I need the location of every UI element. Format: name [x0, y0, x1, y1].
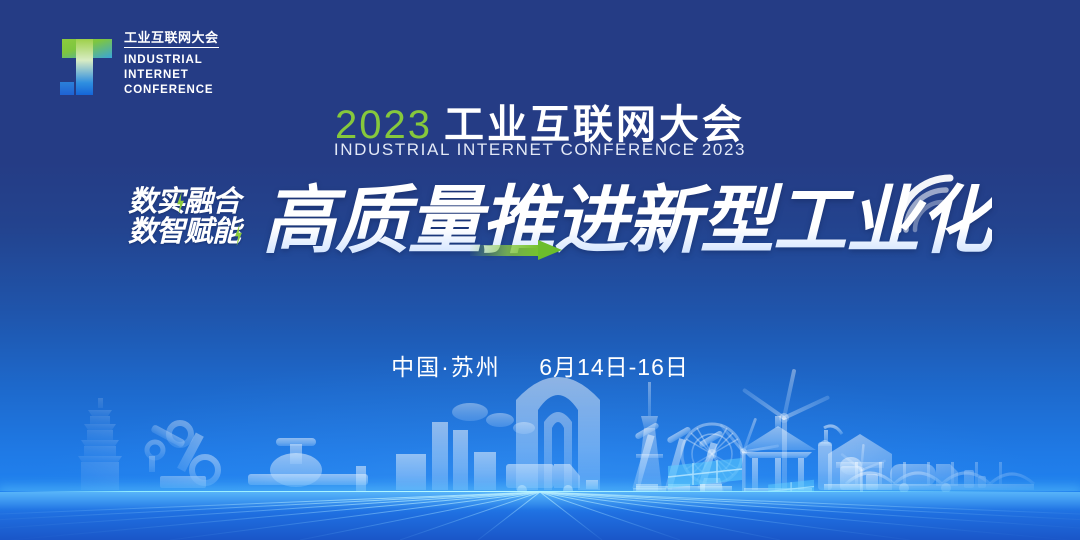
- perspective-grid: [0, 492, 1080, 540]
- arrow-head: [538, 240, 562, 260]
- event-location: 中国·苏州: [391, 354, 501, 380]
- wifi-signal-icon: [888, 168, 960, 240]
- logo-mark-icon: [56, 33, 112, 95]
- pagoda-icon: [78, 398, 122, 490]
- event-meta: 中国·苏州 6月14日-16日: [0, 348, 1080, 382]
- event-date: 6月14日-16日: [539, 354, 689, 380]
- logo-english-line-2: INTERNET: [124, 68, 219, 83]
- wind-turbine-icon: [719, 418, 779, 498]
- gate-of-the-orient-icon: [516, 377, 600, 490]
- logo-text-block: 工业互联网大会 INDUSTRIAL INTERNET CONFERENCE: [124, 30, 219, 99]
- wind-turbine-icon: [742, 369, 830, 492]
- factory-smokestacks-icon: [396, 403, 535, 490]
- tv-tower-icon: [633, 382, 666, 492]
- conference-poster: 工业互联网大会 INDUSTRIAL INTERNET CONFERENCE 2…: [0, 0, 1080, 540]
- ferris-wheel-icon: [682, 424, 742, 492]
- green-arrow-icon: [470, 240, 562, 260]
- bridge-icon: [824, 462, 1034, 490]
- wind-turbine-icon: [840, 444, 886, 498]
- chinese-pavilion-icon: [740, 416, 816, 493]
- tanker-truck-icon: [890, 464, 986, 493]
- logo-chinese-name: 工业互联网大会: [124, 31, 219, 48]
- slogan-secondary-line-1: 数实融合: [128, 188, 240, 218]
- pipe-valve-icon: [248, 438, 368, 492]
- logo-mark-stem: [76, 39, 93, 95]
- port-cranes-icon: [632, 422, 732, 491]
- slogan-main: 高质量推进新型工业化: [262, 178, 992, 264]
- storage-tanks-icon: [818, 426, 878, 490]
- logo-english-line-1: INDUSTRIAL: [124, 53, 219, 68]
- slogan-secondary-line-2: 数智赋能: [128, 218, 240, 248]
- page-subtitle: INDUSTRIAL INTERNET CONFERENCE 2023: [0, 140, 1080, 160]
- slogan-secondary: 数实融合 数智赋能: [128, 188, 240, 247]
- conference-logo: 工业互联网大会 INDUSTRIAL INTERNET CONFERENCE: [56, 30, 219, 99]
- low-building-icon: [828, 434, 892, 490]
- arrow-shaft: [470, 245, 538, 256]
- robot-arm-icon: [147, 423, 218, 488]
